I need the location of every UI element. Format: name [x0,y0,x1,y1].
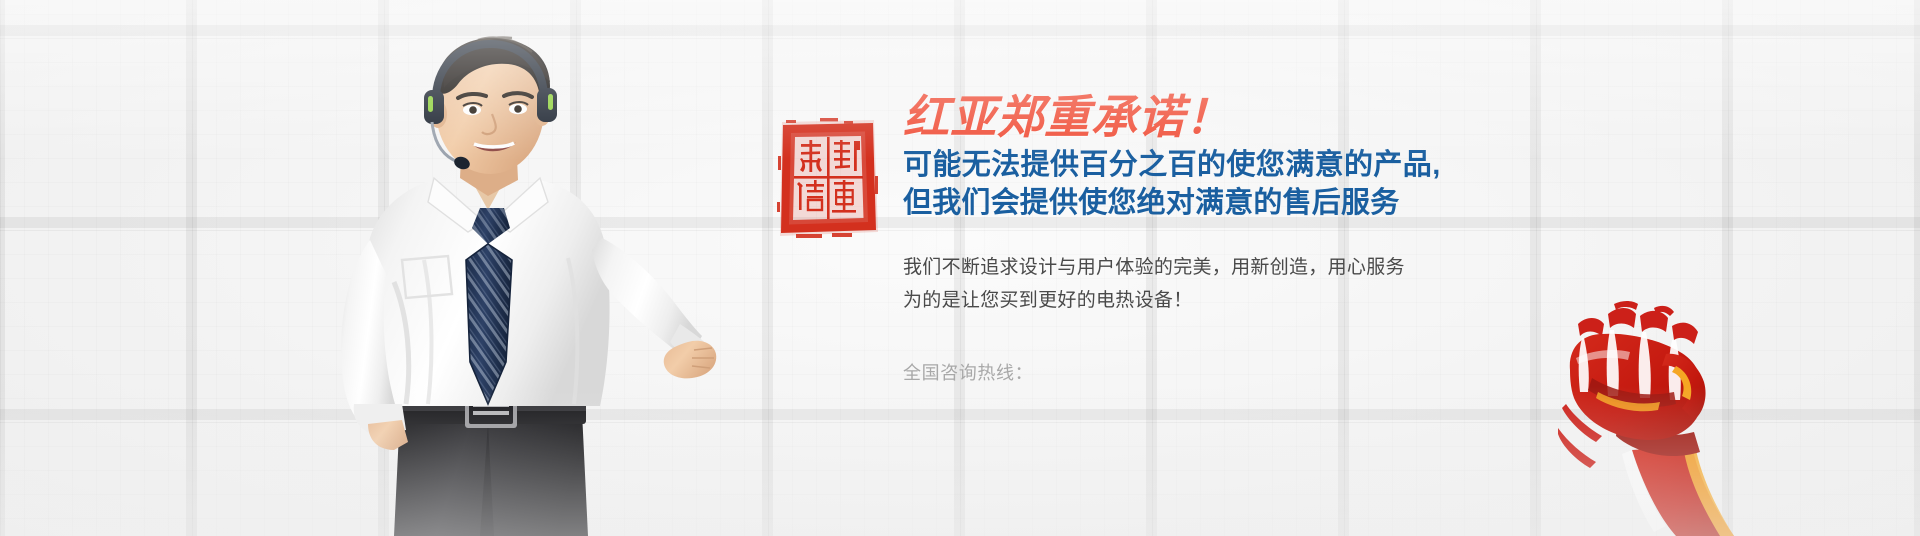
promise-banner: 红亚郑重承诺！ 可能无法提供百分之百的使您满意的产品, 但我们会提供使您绝对满意… [0,0,1920,536]
raised-fist-graphic [1558,300,1820,536]
hotline-block: 全国咨询热线： [903,359,1663,385]
paragraph-line-1: 我们不断追求设计与用户体验的完美，用新创造，用心服务 [903,251,1663,284]
subline-2: 但我们会提供使您绝对满意的售后服务 [903,184,1663,222]
description-paragraph: 我们不断追求设计与用户体验的完美，用新创造，用心服务 为的是让您买到更好的电热设… [903,251,1663,317]
customer-service-person-photo [282,32,718,536]
promise-seal-stamp [774,116,882,240]
headline: 红亚郑重承诺！ [903,88,1663,146]
copy-block: 红亚郑重承诺！ 可能无法提供百分之百的使您满意的产品, 但我们会提供使您绝对满意… [903,88,1663,385]
hotline-label: 全国咨询热线： [903,363,1033,383]
subline-1: 可能无法提供百分之百的使您满意的产品, [903,146,1663,184]
paragraph-line-2: 为的是让您买到更好的电热设备！ [903,284,1663,317]
